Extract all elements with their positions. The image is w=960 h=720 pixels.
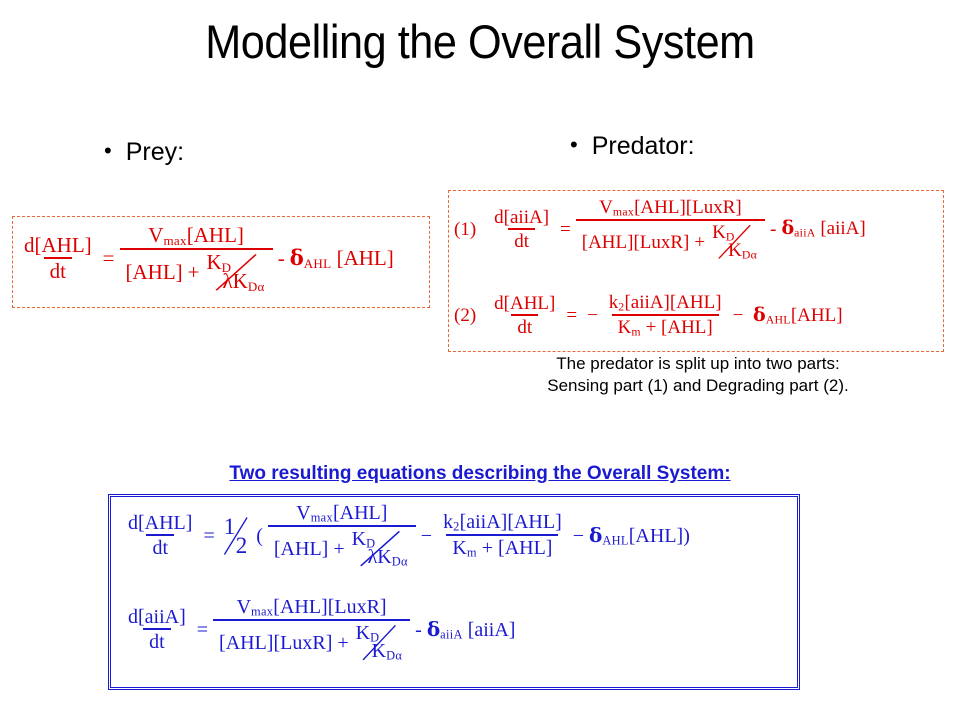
kd-symbol: K: [356, 622, 370, 644]
prey-label: Prey:: [126, 138, 184, 166]
bullet-dot-icon: •: [570, 132, 592, 157]
kd-over-lambda-kda-slashed-fraction: KD λKDα: [205, 252, 267, 293]
k2-symbol: k: [443, 511, 453, 533]
predator-equation-1: (1) d[aiiA] dt = Vmax[AHL][LuxR] [AHL][L…: [454, 198, 866, 261]
open-parenthesis: (: [251, 526, 268, 546]
kd-over-kda-slashed-fraction: KD KDα: [710, 223, 759, 261]
slide-canvas: Modelling the Overall System •Prey: •Pre…: [0, 0, 960, 720]
kda-subscript: Dα: [742, 248, 757, 261]
prey-lhs-fraction: d[AHL] dt: [18, 235, 98, 282]
equation-number-2: (2): [454, 306, 488, 325]
minus-sign: -: [410, 620, 427, 640]
kd-symbol: K: [712, 222, 726, 243]
delta-symbol: δ: [290, 245, 304, 270]
km-symbol: K: [452, 537, 466, 559]
pred2-lhs-numerator: d[AHL]: [488, 294, 561, 314]
kda-symbol: K: [728, 240, 742, 261]
overall-equation-2: d[aiiA] dt = Vmax[AHL][LuxR] [AHL][LuxR]…: [122, 597, 515, 662]
prey-equation: d[AHL] dt = Vmax[AHL] [AHL] + KD λKDα - …: [18, 225, 394, 293]
delta-subscript: AHL: [766, 313, 791, 326]
overall1-lhs-numerator: d[AHL]: [122, 513, 198, 534]
overall2-lhs-denominator: dt: [143, 628, 171, 652]
pred2-lhs-denominator: dt: [511, 314, 538, 337]
predator-note: The predator is split up into two parts:…: [448, 353, 948, 397]
predator-bullet-heading: •Predator:: [570, 132, 695, 161]
kd-symbol: K: [352, 528, 366, 550]
equals-sign: =: [555, 220, 576, 239]
page-title: Modelling the Overall System: [38, 14, 921, 69]
overall1-term1-denominator: [AHL] + KD λKDα: [268, 525, 416, 568]
pred2-rhs-fraction: k2[aiiA][AHL] Km + [AHL]: [603, 293, 728, 339]
km-symbol: K: [618, 317, 632, 338]
vmax-species: [AHL][LuxR]: [273, 596, 386, 618]
vmax-subscript: max: [311, 511, 333, 525]
pred1-rhs-numerator: Vmax[AHL][LuxR]: [593, 198, 748, 219]
equals-sign: =: [192, 620, 213, 640]
overall1-decay-term: δAHL[AHL]): [589, 525, 690, 547]
overall2-rhs-denominator: [AHL][LuxR] + KD KDα: [213, 619, 410, 662]
plus-sign: +: [332, 633, 353, 653]
delta-subscript: AHL: [602, 533, 628, 547]
minus-sign: -: [273, 248, 290, 269]
km-rest: + [AHL]: [646, 317, 713, 338]
prey-rhs-numerator: Vmax[AHL]: [142, 225, 250, 248]
vmax-species: [AHL]: [333, 502, 387, 524]
prey-lhs-numerator: d[AHL]: [18, 235, 98, 257]
overall1-term1-numerator: Vmax[AHL]: [290, 503, 393, 525]
vmax-species: [AHL][LuxR]: [634, 197, 742, 218]
minus-sign-1: −: [416, 526, 437, 546]
overall1-term2-fraction: k2[aiiA][AHL] Km + [AHL]: [437, 512, 568, 559]
pred2-rhs-numerator: k2[aiiA][AHL]: [603, 293, 728, 314]
k2-species: [aiiA][AHL]: [624, 292, 721, 313]
delta-symbol: δ: [753, 304, 766, 326]
k2-symbol: k: [609, 292, 619, 313]
vmax-subscript: max: [251, 605, 273, 619]
denominator-first-term: [AHL]: [126, 262, 183, 283]
overall2-lhs-fraction: d[aiiA] dt: [122, 607, 192, 652]
minus-sign-2: −: [568, 526, 589, 546]
denominator-first-term: [AHL][LuxR]: [219, 633, 332, 653]
slash-denominator: λKDα: [352, 547, 408, 568]
decay-species: [aiiA]: [820, 218, 865, 239]
predator-note-line-2: Sensing part (1) and Degrading part (2).: [448, 375, 948, 397]
overall2-decay-term: δaiiA [aiiA]: [427, 619, 516, 641]
km-rest: + [AHL]: [482, 537, 553, 559]
delta-subscript: aiiA: [440, 627, 463, 641]
kda-subscript: Dα: [386, 649, 402, 663]
equals-sign: =: [98, 248, 120, 269]
lambda-kd-symbol: λK: [223, 269, 248, 293]
prey-decay-term: δAHL [AHL]: [290, 247, 394, 270]
pred1-lhs-denominator: dt: [508, 228, 535, 251]
kda-symbol: K: [372, 640, 386, 662]
pred1-rhs-fraction: Vmax[AHL][LuxR] [AHL][LuxR] + KD KDα: [576, 198, 765, 261]
minus-sign: −: [728, 306, 749, 325]
prey-rhs-fraction: Vmax[AHL] [AHL] + KD λKDα: [120, 225, 273, 293]
kd-over-lambda-kda-slashed-fraction: KD λKDα: [350, 529, 410, 568]
overall2-rhs-fraction: Vmax[AHL][LuxR] [AHL][LuxR] + KD KDα: [213, 597, 410, 662]
equals-sign: =: [198, 526, 219, 546]
decay-species: [AHL]): [629, 525, 690, 547]
overall1-lhs-denominator: dt: [146, 534, 174, 558]
slash-denominator: KDα: [356, 641, 403, 662]
equation-number-1: (1): [454, 220, 488, 239]
vmax-subscript: max: [613, 206, 634, 219]
overall2-rhs-numerator: Vmax[AHL][LuxR]: [231, 597, 393, 619]
decay-species: [AHL]: [337, 246, 394, 270]
plus-sign: +: [183, 262, 205, 283]
pred1-rhs-denominator: [AHL][LuxR] + KD KDα: [576, 219, 765, 261]
vmax-symbol: V: [599, 197, 613, 218]
minus-sign: -: [765, 220, 781, 239]
vmax-subscript: max: [163, 233, 186, 248]
vmax-symbol: V: [237, 596, 251, 618]
plus-sign: +: [689, 233, 710, 252]
delta-symbol: δ: [427, 617, 440, 641]
overall1-lhs-fraction: d[AHL] dt: [122, 513, 198, 558]
leading-minus-sign: −: [582, 306, 603, 325]
lambda-kd-subscript: Dα: [392, 555, 408, 569]
equals-sign: =: [561, 306, 582, 325]
pred2-lhs-fraction: d[AHL] dt: [488, 294, 561, 337]
slash-denominator: KDα: [712, 241, 757, 261]
pred2-rhs-denominator: Km + [AHL]: [612, 314, 719, 338]
overall1-term1-fraction: Vmax[AHL] [AHL] + KD λKDα: [268, 503, 416, 568]
prey-lhs-denominator: dt: [44, 257, 72, 282]
k2-species: [aiiA][AHL]: [460, 511, 562, 533]
pred2-decay-term: δAHL[AHL]: [748, 306, 842, 326]
predator-equation-2: (2) d[AHL] dt = − k2[aiiA][AHL] Km + [AH…: [454, 293, 843, 339]
one-half-slashed-fraction: 1 2: [220, 515, 252, 557]
lambda-kd-symbol: λK: [368, 546, 392, 568]
slash-denominator: λKDα: [207, 271, 265, 293]
km-subscript: m: [631, 326, 640, 339]
prey-rhs-denominator: [AHL] + KD λKDα: [120, 248, 273, 293]
predator-note-line-1: The predator is split up into two parts:: [448, 353, 948, 375]
vmax-symbol: V: [148, 223, 163, 247]
vmax-symbol: V: [296, 502, 310, 524]
vmax-species: [AHL]: [187, 223, 244, 247]
overall1-term2-numerator: k2[aiiA][AHL]: [437, 512, 568, 534]
delta-subscript: AHL: [304, 256, 332, 271]
pred1-lhs-numerator: d[aiiA]: [488, 208, 555, 228]
delta-symbol: δ: [781, 217, 794, 239]
pred1-lhs-fraction: d[aiiA] dt: [488, 208, 555, 251]
decay-species: [aiiA]: [468, 619, 516, 641]
kd-over-kda-slashed-fraction: KD KDα: [354, 623, 405, 662]
overall1-term2-denominator: Km + [AHL]: [446, 534, 558, 559]
plus-sign: +: [328, 539, 349, 559]
delta-symbol: δ: [589, 523, 602, 547]
km-subscript: m: [467, 546, 477, 560]
pred1-decay-term: δaiiA [aiiA]: [781, 219, 865, 239]
denominator-first-term: [AHL]: [274, 539, 328, 559]
overall-equation-1: d[AHL] dt = 1 2 ( Vmax[AHL] [AHL] +: [122, 503, 690, 568]
overall-system-heading: Two resulting equations describing the O…: [0, 463, 960, 485]
prey-bullet-heading: •Prey:: [104, 138, 184, 167]
kd-symbol: K: [207, 250, 222, 274]
overall2-lhs-numerator: d[aiiA]: [122, 607, 192, 628]
bullet-dot-icon: •: [104, 138, 126, 163]
predator-label: Predator:: [592, 132, 695, 160]
delta-subscript: aiiA: [794, 227, 815, 240]
lambda-kd-subscript: Dα: [248, 279, 265, 294]
fraction-slash-icon: [220, 515, 252, 557]
decay-species: [AHL]: [791, 305, 843, 326]
denominator-first-term: [AHL][LuxR]: [582, 233, 690, 252]
